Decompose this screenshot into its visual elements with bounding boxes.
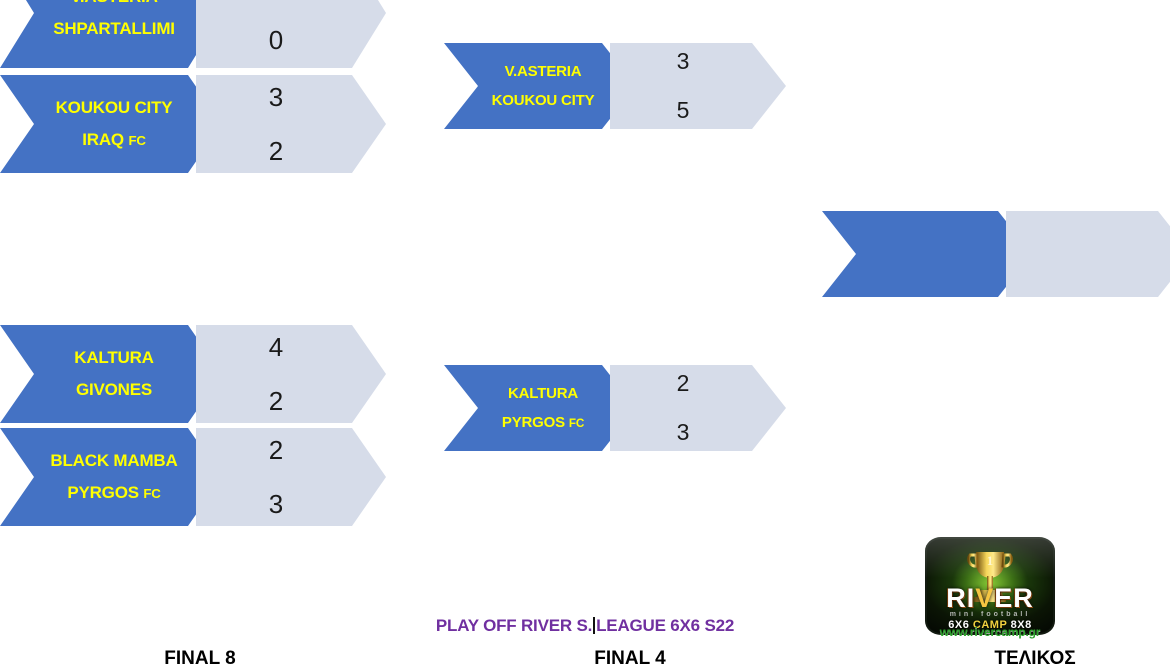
- match-final8-4[interactable]: BLACK MAMBA PYRGOS FC 2 3: [0, 428, 390, 526]
- score-value: 3: [677, 421, 690, 444]
- team-chevron[interactable]: KOUKOU CITY IRAQ FC: [0, 75, 222, 173]
- team-name: KOUKOU CITY: [56, 99, 173, 117]
- logo-url: www.rivercamp.gr: [925, 625, 1055, 639]
- score-value: 0: [269, 27, 283, 53]
- team-name: V.ASTERIA: [70, 0, 157, 6]
- svg-text:1: 1: [987, 553, 994, 568]
- score-chevron[interactable]: 4 2: [196, 325, 386, 423]
- team-name: IRAQ FC: [82, 131, 146, 149]
- team-name-suffix: FC: [569, 417, 584, 430]
- logo-word-ri: RI: [946, 583, 975, 613]
- team-name: PYRGOS FC: [502, 415, 584, 431]
- score-value: 3: [269, 491, 283, 517]
- team-name: KALTURA: [74, 349, 154, 367]
- team-name: KOUKOU CITY: [492, 93, 595, 109]
- team-name: V.ASTERIA: [505, 64, 582, 80]
- score-value: 5: [677, 99, 690, 122]
- team-name: KALTURA: [508, 386, 578, 402]
- match-final4-2[interactable]: KALTURA PYRGOS FC 2 3: [444, 365, 789, 451]
- match-final8-2[interactable]: KOUKOU CITY IRAQ FC 3 2: [0, 75, 390, 173]
- team-chevron[interactable]: V.ASTERIA KOUKOU CITY: [444, 43, 636, 129]
- logo-tagline: mini football: [925, 611, 1055, 618]
- match-final8-1[interactable]: V.ASTERIA SHPARTALLIMI 6 0: [0, 0, 390, 68]
- score-chevron[interactable]: 6 0: [196, 0, 386, 68]
- score-chevron[interactable]: [1006, 211, 1170, 297]
- match-final4-1[interactable]: V.ASTERIA KOUKOU CITY 3 5: [444, 43, 789, 129]
- team-name-suffix: FC: [143, 486, 160, 501]
- logo-wordmark: RIVER: [925, 583, 1055, 614]
- team-name: PYRGOS FC: [67, 484, 160, 502]
- river-camp-logo: 1 RIVER mini football 6X6 CAMP 8X8: [925, 537, 1055, 635]
- score-value: 3: [677, 50, 690, 73]
- score-chevron[interactable]: 2 3: [196, 428, 386, 526]
- score-chevron[interactable]: 3 5: [610, 43, 786, 129]
- bracket-title-after: LEAGUE 6X6 S22: [596, 616, 734, 635]
- team-chevron[interactable]: V.ASTERIA SHPARTALLIMI: [0, 0, 222, 68]
- score-chevron[interactable]: 3 2: [196, 75, 386, 173]
- round-label-final8: FINAL 8: [90, 648, 310, 670]
- team-chevron[interactable]: KALTURA PYRGOS FC: [444, 365, 636, 451]
- text-cursor: [593, 617, 595, 634]
- logo-word-v: V: [975, 583, 994, 613]
- bracket-title-before: PLAY OFF RIVER S.: [436, 616, 592, 635]
- team-chevron[interactable]: BLACK MAMBA PYRGOS FC: [0, 428, 222, 526]
- match-final-1[interactable]: [822, 211, 1170, 297]
- score-value: 2: [269, 388, 283, 414]
- team-chevron[interactable]: [822, 211, 1032, 297]
- team-chevron[interactable]: KALTURA GIVONES: [0, 325, 222, 423]
- team-name: SHPARTALLIMI: [53, 20, 175, 38]
- round-label-final4: FINAL 4: [520, 648, 740, 670]
- score-value: 3: [269, 84, 283, 110]
- score-value: 2: [677, 372, 690, 395]
- score-chevron[interactable]: 2 3: [610, 365, 786, 451]
- score-value: 4: [269, 334, 283, 360]
- match-final8-3[interactable]: KALTURA GIVONES 4 2: [0, 325, 390, 423]
- round-label-final: ΤΕΛΙΚΟΣ: [925, 648, 1145, 670]
- logo-word-er: ER: [994, 583, 1034, 613]
- team-name: BLACK MAMBA: [50, 452, 177, 470]
- team-name-suffix: FC: [128, 133, 145, 148]
- score-value: 2: [269, 138, 283, 164]
- team-name: GIVONES: [76, 381, 152, 399]
- score-value: 2: [269, 437, 283, 463]
